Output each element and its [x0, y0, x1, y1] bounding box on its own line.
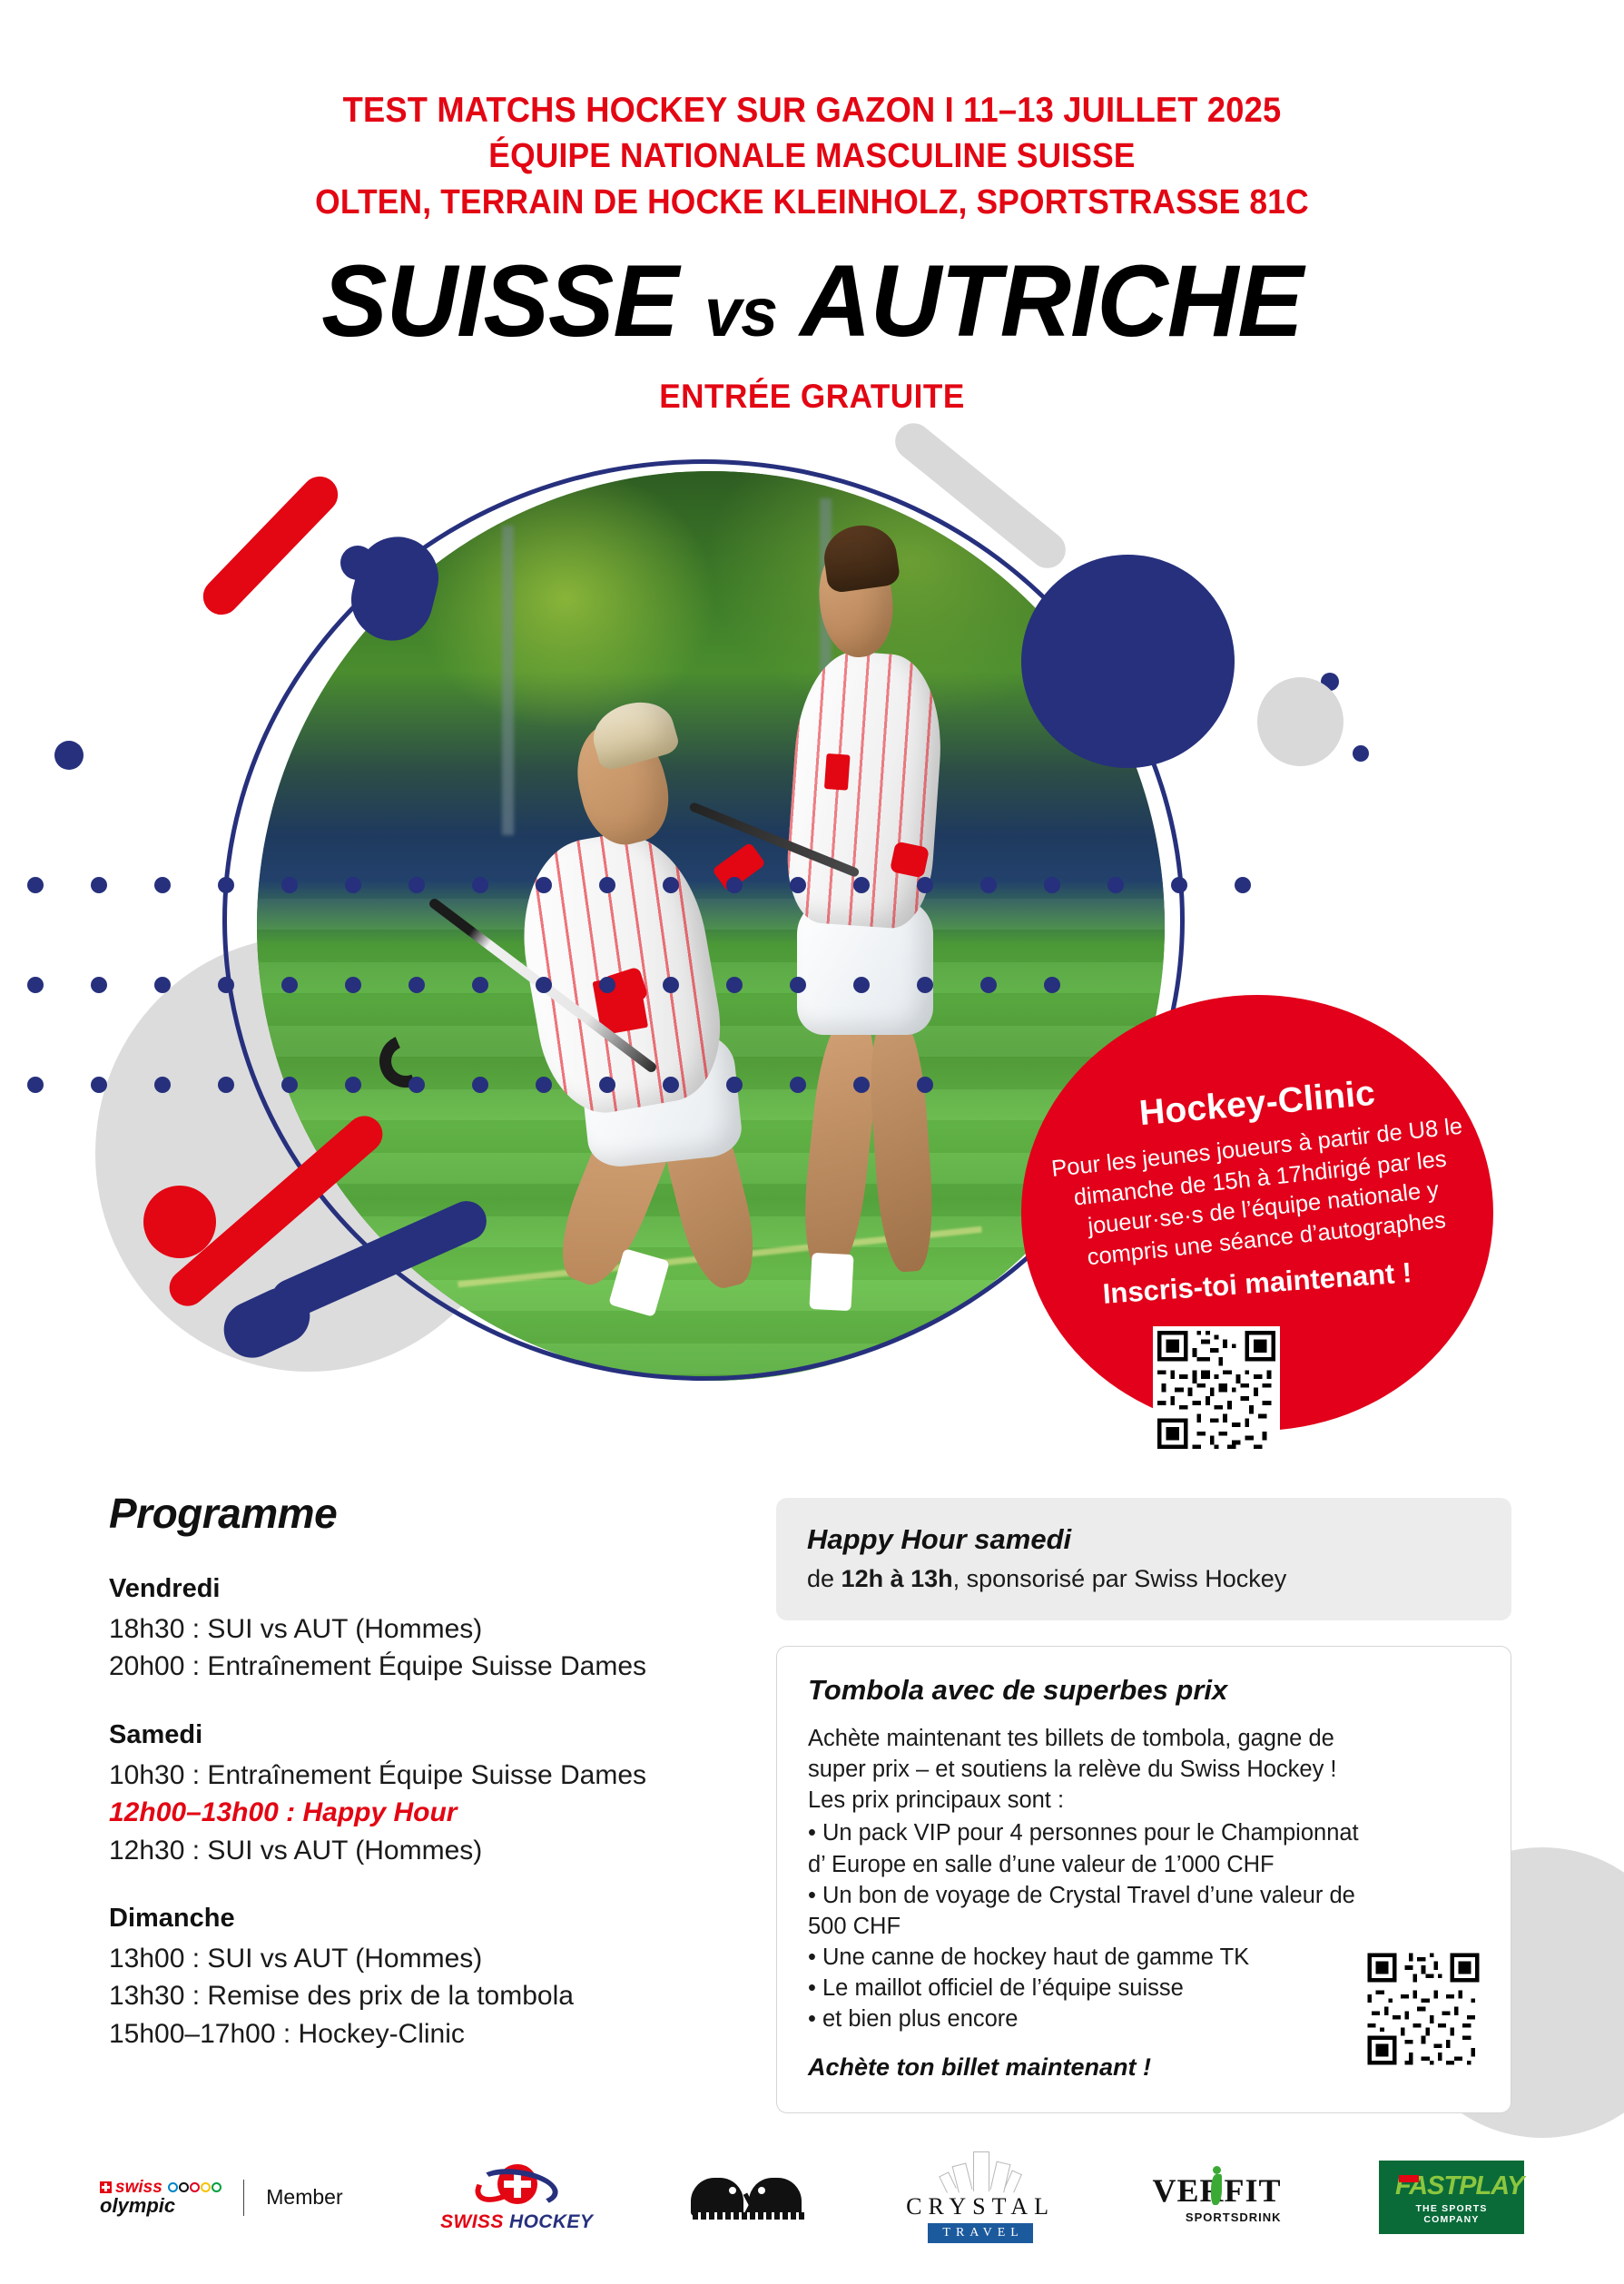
programme-day-name: Dimanche: [109, 1904, 744, 1934]
fastplay-red-accent: [1399, 2175, 1419, 2182]
tombola-prize-item: •Le maillot officiel de l’équipe suisse: [808, 1973, 1371, 2003]
qr-code-icon: [1363, 1949, 1483, 2069]
programme-day-name: Vendredi: [109, 1574, 744, 1604]
decorative-dot: [536, 1077, 552, 1093]
sponsor-crystal-travel: CRYSTAL TRAVEL: [906, 2151, 1055, 2243]
decorative-dot: [726, 977, 743, 993]
hc-olten-logo-icon: [691, 2176, 809, 2220]
tombola-prize-text: Un bon de voyage de Crystal Travel d’une…: [808, 1883, 1355, 1939]
decorative-dot: [790, 1077, 806, 1093]
swiss-cross-icon: [100, 2181, 112, 2193]
sponsor-fastplay: FASTPLAY THE SPORTS COMPANY: [1379, 2161, 1524, 2234]
decorative-dot: [599, 977, 615, 993]
tombola-prize-text: et bien plus encore: [822, 2006, 1018, 2032]
fastplay-logo: FASTPLAY THE SPORTS COMPANY: [1379, 2161, 1524, 2234]
decorative-dot: [853, 977, 870, 993]
programme-section: Programme Vendredi18h30 : SUI vs AUT (Ho…: [109, 1489, 744, 2087]
crystal-name: CRYSTAL: [906, 2193, 1055, 2220]
programme-days: Vendredi18h30 : SUI vs AUT (Hommes)20h00…: [109, 1574, 744, 2053]
tombola-prize-item: •et bien plus encore: [808, 2003, 1371, 2034]
free-entry-label: ENTRÉE GRATUITE: [41, 378, 1584, 416]
decorative-dot: [853, 877, 870, 893]
decorative-dot: [345, 977, 361, 993]
hockey-clinic-qr-code[interactable]: [1153, 1326, 1280, 1453]
programme-title: Programme: [109, 1489, 744, 1538]
sponsor-hc-olten: [691, 2176, 809, 2220]
verofit-sub: SPORTSDRINK: [1186, 2210, 1282, 2224]
programme-entry: 13h30 : Remise des prix de la tombola: [109, 1977, 744, 2014]
poster-header: TEST MATCHS HOCKEY SUR GAZON I 11–13 JUI…: [0, 87, 1624, 416]
decorative-dot: [1235, 877, 1251, 893]
decorative-dot: [154, 977, 171, 993]
bullet-icon: •: [808, 1817, 822, 1848]
decorative-dot: [1171, 877, 1187, 893]
swiss-hockey-word-2: HOCKEY: [509, 2211, 593, 2232]
decorative-dot: [663, 1077, 679, 1093]
decorative-dot: [1353, 745, 1369, 762]
programme-entry: 12h00–13h00 : Happy Hour: [109, 1794, 744, 1831]
decorative-dot: [980, 977, 997, 993]
decorative-dot: [917, 977, 933, 993]
bear-left-icon: [691, 2178, 743, 2216]
tombola-card: Tombola avec de superbes prix Achète mai…: [776, 1646, 1511, 2113]
decorative-dot: [154, 1077, 171, 1093]
decorative-dot: [790, 877, 806, 893]
decorative-dot: [27, 877, 44, 893]
bear-eye-left: [729, 2187, 736, 2194]
verofit-wordmark: VERFIT: [1153, 2171, 1282, 2210]
decorative-dot: [408, 877, 425, 893]
bullet-icon: •: [808, 1942, 822, 1973]
tombola-prize-text: Le maillot officiel de l’équipe suisse: [822, 1975, 1184, 2001]
kicker-line-1: TEST MATCHS HOCKEY SUR GAZON I 11–13 JUI…: [57, 87, 1568, 133]
decorative-dot: [281, 977, 298, 993]
decorative-dot: [663, 877, 679, 893]
vs-label: vs: [704, 274, 777, 351]
decorative-dot: [91, 977, 107, 993]
decorative-dot: [917, 1077, 933, 1093]
right-column: Happy Hour samedi de 12h à 13h, sponsori…: [776, 1498, 1511, 2113]
match-title: SUISSE vs AUTRICHE: [25, 251, 1599, 352]
decorative-dot: [218, 877, 234, 893]
decorative-dot: [472, 1077, 488, 1093]
programme-entry: 12h30 : SUI vs AUT (Hommes): [109, 1832, 744, 1869]
decorative-dot: [472, 877, 488, 893]
bullet-icon: •: [808, 2003, 822, 2034]
decorative-dot: [91, 877, 107, 893]
happy-hour-title: Happy Hour samedi: [807, 1523, 1481, 1556]
runner-figure-icon: [1209, 2166, 1224, 2208]
decorative-dot: [917, 877, 933, 893]
decorative-dot: [536, 877, 552, 893]
programme-entry: 15h00–17h00 : Hockey-Clinic: [109, 2015, 744, 2053]
programme-entry: 10h30 : Entraînement Équipe Suisse Dames: [109, 1757, 744, 1794]
decorative-dot: [536, 977, 552, 993]
programme-day: Dimanche13h00 : SUI vs AUT (Hommes)13h30…: [109, 1904, 744, 2053]
decorative-dot: [345, 877, 361, 893]
decorative-dot: [27, 977, 44, 993]
tombola-title: Tombola avec de superbes prix: [808, 1674, 1480, 1707]
grey-circle-small: [1257, 677, 1343, 766]
decorative-dot: [54, 741, 84, 770]
decorative-dot: [408, 977, 425, 993]
happy-hour-prefix: de: [807, 1565, 842, 1592]
kicker-line-3: OLTEN, TERRAIN DE HOCKE KLEINHOLZ, SPORT…: [57, 180, 1568, 225]
swiss-hockey-wordmark: SWISS HOCKEY: [440, 2211, 593, 2233]
decorative-dot: [281, 877, 298, 893]
decorative-dot: [1044, 877, 1060, 893]
decorative-dot: [281, 1077, 298, 1093]
decorative-dot: [27, 1077, 44, 1093]
kicker-line-2: ÉQUIPE NATIONALE MASCULINE SUISSE: [57, 133, 1568, 179]
navy-circle-large: [1021, 555, 1235, 768]
swiss-olympic-member-text: Member: [266, 2185, 342, 2210]
happy-hour-detail: de 12h à 13h, sponsorisé par Swiss Hocke…: [807, 1565, 1481, 1593]
fastplay-tagline: THE SPORTS COMPANY: [1395, 2203, 1508, 2225]
sponsor-verofit: VERFIT SPORTSDRINK: [1153, 2171, 1282, 2224]
team-b-label: AUTRICHE: [800, 244, 1303, 358]
swiss-hockey-logo-icon: [469, 2162, 565, 2210]
sponsor-row: swiss olympic Member SWISS HOCKEY: [0, 2151, 1624, 2243]
decorative-dot: [980, 877, 997, 893]
tombola-qr-code[interactable]: [1363, 1949, 1483, 2069]
decorative-dot: [218, 1077, 234, 1093]
swiss-olympic-mark: swiss olympic: [100, 2178, 221, 2218]
decorative-dot: [408, 1077, 425, 1093]
decorative-dot: [472, 977, 488, 993]
tombola-prize-text: Un pack VIP pour 4 personnes pour le Cha…: [808, 1820, 1359, 1876]
poster: TEST MATCHS HOCKEY SUR GAZON I 11–13 JUI…: [0, 0, 1624, 2284]
swiss-olympic-olympic-text: olympic: [100, 2194, 221, 2218]
bullet-icon: •: [808, 1880, 822, 1911]
crystal-travel-label: TRAVEL: [928, 2223, 1032, 2243]
decorative-dot: [91, 1077, 107, 1093]
decorative-dot: [726, 1077, 743, 1093]
decorative-dot: [726, 877, 743, 893]
bear-feet: [693, 2212, 807, 2220]
programme-day-name: Samedi: [109, 1720, 744, 1750]
tombola-prize-item: •Un pack VIP pour 4 personnes pour le Ch…: [808, 1817, 1371, 1879]
programme-entry: 13h00 : SUI vs AUT (Hommes): [109, 1940, 744, 1977]
programme-entry: 20h00 : Entraînement Équipe Suisse Dames: [109, 1648, 744, 1685]
sponsor-swiss-olympic: swiss olympic Member: [100, 2178, 343, 2218]
decorative-dot: [1044, 977, 1060, 993]
swoosh-navy-icon: [474, 2163, 560, 2210]
tombola-prize-text: Une canne de hockey haut de gamme TK: [822, 1944, 1249, 1970]
qr-code-icon: [1153, 1326, 1280, 1453]
happy-hour-time: 12h à 13h: [842, 1565, 953, 1592]
sponsor-swiss-hockey: SWISS HOCKEY: [440, 2162, 593, 2233]
swiss-hockey-word-1: SWISS: [440, 2211, 504, 2232]
decorative-dot: [1107, 877, 1124, 893]
fastplay-name: FASTPLAY: [1395, 2171, 1508, 2201]
team-a-label: SUISSE: [321, 244, 678, 358]
bullet-icon: •: [808, 1973, 822, 2003]
programme-entry: 18h30 : SUI vs AUT (Hommes): [109, 1610, 744, 1648]
tombola-prize-item: •Une canne de hockey haut de gamme TK: [808, 1942, 1371, 1973]
decorative-dot: [790, 977, 806, 993]
event-kicker: TEST MATCHS HOCKEY SUR GAZON I 11–13 JUI…: [57, 87, 1568, 225]
happy-hour-card: Happy Hour samedi de 12h à 13h, sponsori…: [776, 1498, 1511, 1620]
tombola-intro: Achète maintenant tes billets de tombola…: [808, 1723, 1353, 1816]
olympic-rings-icon: [168, 2182, 221, 2192]
decorative-dot: [345, 1077, 361, 1093]
decorative-dot: [218, 977, 234, 993]
tombola-prize-item: •Un bon de voyage de Crystal Travel d’un…: [808, 1880, 1371, 1942]
decorative-dot: [663, 977, 679, 993]
divider: [243, 2180, 245, 2216]
crystal-gems-icon: [935, 2151, 1026, 2191]
decorative-dot: [154, 877, 171, 893]
programme-day: Samedi10h30 : Entraînement Équipe Suisse…: [109, 1720, 744, 1869]
decorative-dot: [599, 1077, 615, 1093]
programme-day: Vendredi18h30 : SUI vs AUT (Hommes)20h00…: [109, 1574, 744, 1686]
hero-graphic: Hockey-Clinic Pour les jeunes joueurs à …: [0, 441, 1624, 1403]
decorative-dot: [599, 877, 615, 893]
happy-hour-suffix: , sponsorisé par Swiss Hockey: [953, 1565, 1287, 1592]
decorative-dot: [853, 1077, 870, 1093]
